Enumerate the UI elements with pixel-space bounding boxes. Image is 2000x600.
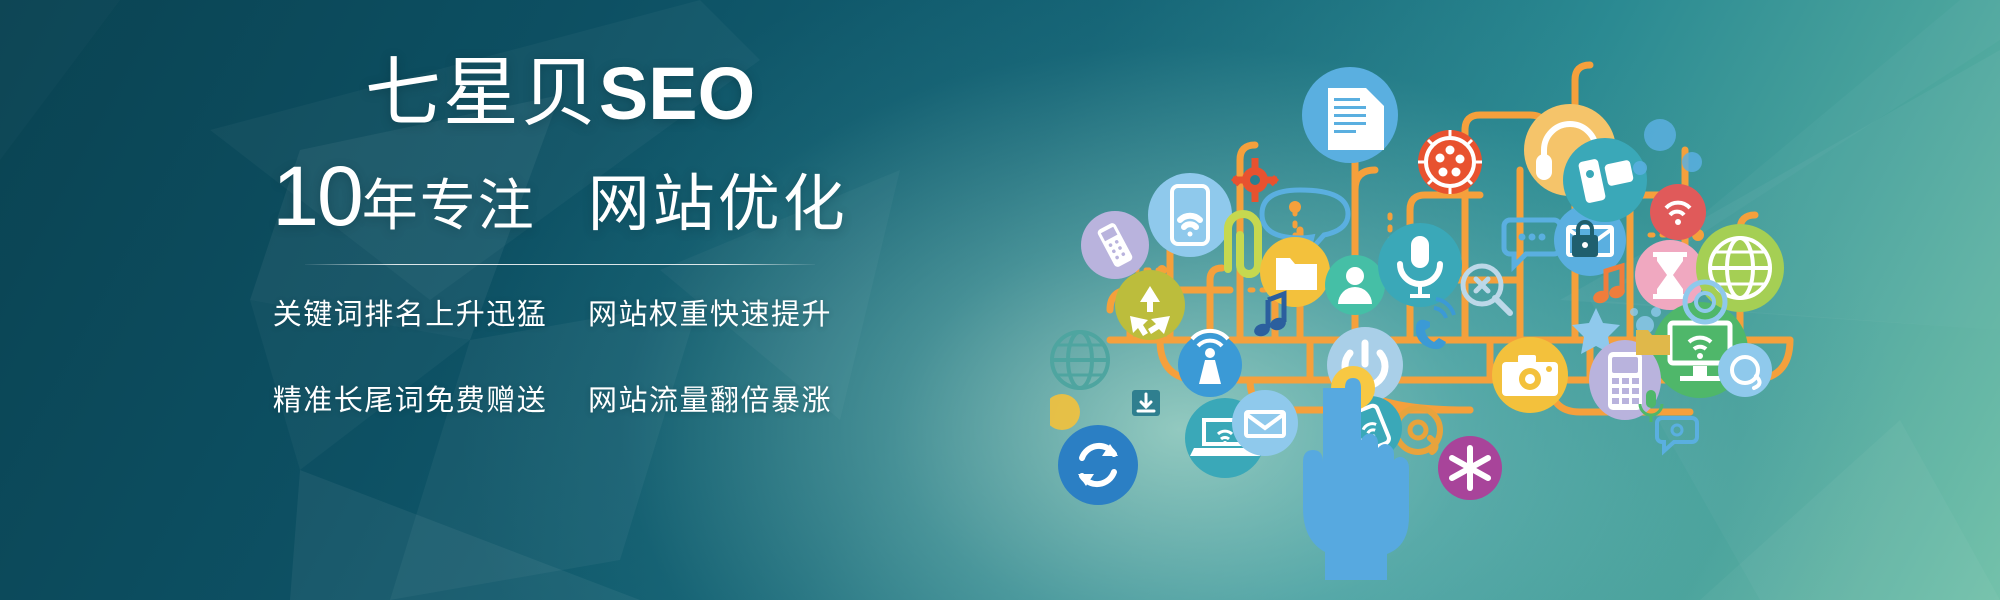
microphone-icon (1378, 223, 1462, 307)
gear-ball-icon (1418, 130, 1482, 194)
download-icon (1132, 390, 1160, 416)
recycle-icon (1115, 270, 1185, 340)
document-icon (1302, 67, 1398, 163)
headline-unit-phrase: 年专注 (362, 178, 536, 234)
user-icon (1325, 255, 1385, 315)
feature-row-2: 精准长尾词免费赠送 网站流量翻倍暴涨 (250, 377, 870, 419)
feature-1-left: 关键词排名上升迅猛 (260, 291, 560, 333)
old-phone-icon (1081, 211, 1149, 279)
brand-title: 七星贝SEO (250, 56, 870, 132)
seo-banner: 七星贝SEO 10 年专注 网站优化 关键词排名上升迅猛 网站权重快速提升 精准… (0, 0, 2000, 600)
camera-video-icon (1563, 138, 1647, 222)
feature-2-left: 精准长尾词免费赠送 (260, 377, 560, 419)
at-sign-circle-icon (1718, 343, 1772, 397)
divider-line (305, 264, 815, 265)
feature-row-1: 关键词排名上升迅猛 网站权重快速提升 (250, 291, 870, 333)
asterisk-icon (1438, 436, 1502, 500)
wifi-signal-icon (1650, 184, 1706, 240)
at-sign-icon (1396, 408, 1440, 452)
headline: 10 年专注 网站优化 (250, 154, 870, 238)
pointing-hand-icon (1303, 366, 1409, 580)
chat-dots-icon (1504, 220, 1560, 266)
feature-1-right: 网站权重快速提升 (560, 291, 860, 333)
search-cancel-icon (1463, 266, 1510, 313)
music-note-icon (1253, 294, 1288, 338)
refresh-sync-icon (1058, 425, 1138, 505)
brand-title-en: SEO (599, 52, 755, 135)
icon-tree-illustration: .br{ fill:none; stroke:#f5a03c; stroke-w… (1050, 40, 1850, 600)
globe-grid-icon (1696, 224, 1784, 312)
globe-outline-icon (1052, 332, 1108, 388)
brand-title-cn: 七星贝 (365, 51, 599, 136)
headline-number: 10 (272, 154, 361, 238)
camera-icon (1492, 337, 1568, 413)
envelope-small-icon (1232, 390, 1298, 456)
feature-2-right: 网站流量翻倍暴涨 (560, 377, 860, 419)
chat-headset-icon (1657, 418, 1697, 451)
text-block: 七星贝SEO 10 年专注 网站优化 关键词排名上升迅猛 网站权重快速提升 精准… (250, 40, 870, 440)
headline-right-phrase: 网站优化 (588, 174, 848, 236)
smartphone-wifi-icon (1148, 173, 1232, 257)
